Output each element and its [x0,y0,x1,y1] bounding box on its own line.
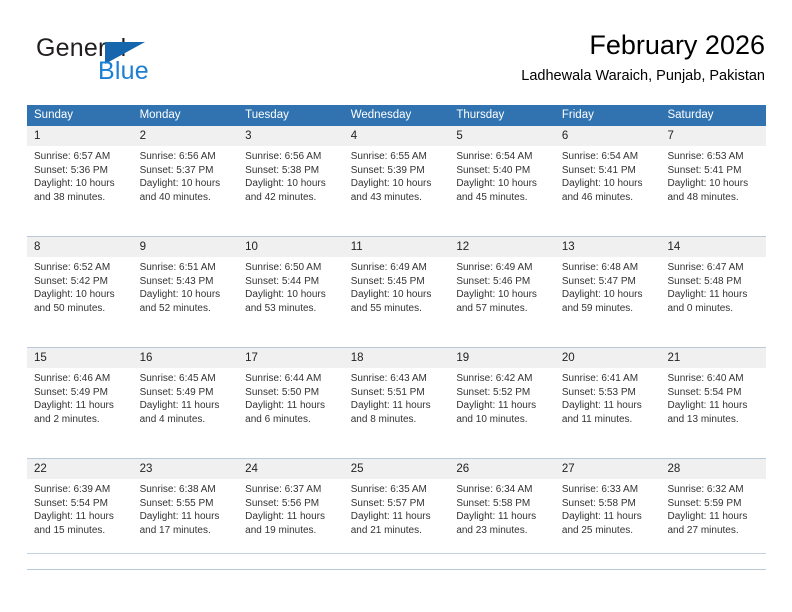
day-number-band: 3 [238,126,344,146]
daylight-text-line2: and 15 minutes. [34,524,126,538]
day-cell[interactable]: 17 Sunrise: 6:44 AM Sunset: 5:50 PM Dayl… [238,348,344,458]
day-number: 8 [27,237,133,257]
calendar-bottom-divider [27,553,766,554]
sunset-text: Sunset: 5:53 PM [562,386,654,400]
sunrise-text: Sunrise: 6:56 AM [245,150,337,164]
daylight-text-line2: and 53 minutes. [245,302,337,316]
daylight-text-line2: and 52 minutes. [140,302,232,316]
day-details: Sunrise: 6:54 AM Sunset: 5:40 PM Dayligh… [449,146,555,204]
daylight-text-line1: Daylight: 11 hours [351,510,443,524]
sunset-text: Sunset: 5:40 PM [456,164,548,178]
sunrise-text: Sunrise: 6:37 AM [245,483,337,497]
sunset-text: Sunset: 5:47 PM [562,275,654,289]
daylight-text-line1: Daylight: 11 hours [667,399,759,413]
day-number-band: 27 [555,459,661,479]
day-number-band: 22 [27,459,133,479]
daylight-text-line2: and 0 minutes. [667,302,759,316]
day-number: 12 [449,237,555,257]
day-number-band: 15 [27,348,133,368]
day-number-band: 9 [133,237,239,257]
daylight-text-line1: Daylight: 11 hours [140,510,232,524]
sunset-text: Sunset: 5:58 PM [456,497,548,511]
day-details: Sunrise: 6:46 AM Sunset: 5:49 PM Dayligh… [27,368,133,426]
daylight-text-line1: Daylight: 10 hours [245,177,337,191]
day-number-band: 11 [344,237,450,257]
weekday-header-monday: Monday [133,105,239,126]
day-cell[interactable]: 5 Sunrise: 6:54 AM Sunset: 5:40 PM Dayli… [449,126,555,236]
day-number-band: 12 [449,237,555,257]
sunset-text: Sunset: 5:54 PM [667,386,759,400]
day-number-band: 1 [27,126,133,146]
daylight-text-line1: Daylight: 11 hours [140,399,232,413]
day-details: Sunrise: 6:50 AM Sunset: 5:44 PM Dayligh… [238,257,344,315]
calendar-grid: Sunday Monday Tuesday Wednesday Thursday… [27,105,766,570]
day-number: 2 [133,126,239,146]
day-details: Sunrise: 6:37 AM Sunset: 5:56 PM Dayligh… [238,479,344,537]
daylight-text-line1: Daylight: 11 hours [667,510,759,524]
title-block: February 2026 Ladhewala Waraich, Punjab,… [521,28,765,87]
day-details: Sunrise: 6:49 AM Sunset: 5:45 PM Dayligh… [344,257,450,315]
daylight-text-line2: and 2 minutes. [34,413,126,427]
day-cell[interactable]: 2 Sunrise: 6:56 AM Sunset: 5:37 PM Dayli… [133,126,239,236]
daylight-text-line2: and 45 minutes. [456,191,548,205]
daylight-text-line2: and 13 minutes. [667,413,759,427]
sunrise-text: Sunrise: 6:49 AM [456,261,548,275]
sunrise-text: Sunrise: 6:33 AM [562,483,654,497]
day-cell[interactable]: 20 Sunrise: 6:41 AM Sunset: 5:53 PM Dayl… [555,348,661,458]
weekday-header-thursday: Thursday [449,105,555,126]
sunset-text: Sunset: 5:41 PM [667,164,759,178]
day-number-band: 26 [449,459,555,479]
sunset-text: Sunset: 5:56 PM [245,497,337,511]
day-cell[interactable]: 16 Sunrise: 6:45 AM Sunset: 5:49 PM Dayl… [133,348,239,458]
daylight-text-line2: and 27 minutes. [667,524,759,538]
daylight-text-line1: Daylight: 11 hours [562,510,654,524]
daylight-text-line2: and 10 minutes. [456,413,548,427]
day-details: Sunrise: 6:52 AM Sunset: 5:42 PM Dayligh… [27,257,133,315]
sunset-text: Sunset: 5:45 PM [351,275,443,289]
daylight-text-line2: and 21 minutes. [351,524,443,538]
sunset-text: Sunset: 5:54 PM [34,497,126,511]
day-cell[interactable]: 6 Sunrise: 6:54 AM Sunset: 5:41 PM Dayli… [555,126,661,236]
day-number: 3 [238,126,344,146]
sunrise-text: Sunrise: 6:34 AM [456,483,548,497]
day-number-band: 8 [27,237,133,257]
day-number: 20 [555,348,661,368]
day-number: 25 [344,459,450,479]
day-number: 18 [344,348,450,368]
day-details: Sunrise: 6:57 AM Sunset: 5:36 PM Dayligh… [27,146,133,204]
day-number: 21 [660,348,766,368]
day-cell[interactable]: 7 Sunrise: 6:53 AM Sunset: 5:41 PM Dayli… [660,126,766,236]
day-cell[interactable]: 8 Sunrise: 6:52 AM Sunset: 5:42 PM Dayli… [27,237,133,347]
day-cell[interactable]: 9 Sunrise: 6:51 AM Sunset: 5:43 PM Dayli… [133,237,239,347]
weekday-header-sunday: Sunday [27,105,133,126]
day-number-band: 18 [344,348,450,368]
brand-name-blue: Blue [98,57,149,86]
day-details: Sunrise: 6:32 AM Sunset: 5:59 PM Dayligh… [660,479,766,537]
daylight-text-line1: Daylight: 10 hours [562,177,654,191]
week-row: 1 Sunrise: 6:57 AM Sunset: 5:36 PM Dayli… [27,126,766,237]
daylight-text-line1: Daylight: 11 hours [667,288,759,302]
week-row: 15 Sunrise: 6:46 AM Sunset: 5:49 PM Dayl… [27,348,766,459]
day-cell[interactable]: 13 Sunrise: 6:48 AM Sunset: 5:47 PM Dayl… [555,237,661,347]
daylight-text-line1: Daylight: 11 hours [456,399,548,413]
sunrise-text: Sunrise: 6:40 AM [667,372,759,386]
sunrise-text: Sunrise: 6:56 AM [140,150,232,164]
calendar-page: General Blue February 2026 Ladhewala War… [0,0,792,612]
day-number: 23 [133,459,239,479]
day-number-band: 24 [238,459,344,479]
day-cell[interactable]: 19 Sunrise: 6:42 AM Sunset: 5:52 PM Dayl… [449,348,555,458]
day-number: 27 [555,459,661,479]
day-number-band: 23 [133,459,239,479]
daylight-text-line1: Daylight: 10 hours [351,288,443,302]
daylight-text-line2: and 57 minutes. [456,302,548,316]
daylight-text-line1: Daylight: 10 hours [562,288,654,302]
sunset-text: Sunset: 5:46 PM [456,275,548,289]
day-number: 13 [555,237,661,257]
day-number-band: 17 [238,348,344,368]
day-number: 26 [449,459,555,479]
daylight-text-line1: Daylight: 11 hours [351,399,443,413]
daylight-text-line1: Daylight: 11 hours [456,510,548,524]
sunset-text: Sunset: 5:44 PM [245,275,337,289]
day-cell[interactable]: 14 Sunrise: 6:47 AM Sunset: 5:48 PM Dayl… [660,237,766,347]
sunrise-text: Sunrise: 6:54 AM [456,150,548,164]
sunset-text: Sunset: 5:59 PM [667,497,759,511]
sunrise-text: Sunrise: 6:39 AM [34,483,126,497]
daylight-text-line2: and 50 minutes. [34,302,126,316]
day-number: 14 [660,237,766,257]
daylight-text-line1: Daylight: 10 hours [140,177,232,191]
daylight-text-line2: and 46 minutes. [562,191,654,205]
day-details: Sunrise: 6:49 AM Sunset: 5:46 PM Dayligh… [449,257,555,315]
day-details: Sunrise: 6:42 AM Sunset: 5:52 PM Dayligh… [449,368,555,426]
day-number-band: 13 [555,237,661,257]
sunrise-text: Sunrise: 6:44 AM [245,372,337,386]
daylight-text-line2: and 23 minutes. [456,524,548,538]
page-title: February 2026 [521,28,765,62]
sunset-text: Sunset: 5:43 PM [140,275,232,289]
week-row: 8 Sunrise: 6:52 AM Sunset: 5:42 PM Dayli… [27,237,766,348]
sunrise-text: Sunrise: 6:51 AM [140,261,232,275]
day-number-band: 25 [344,459,450,479]
day-cell[interactable]: 11 Sunrise: 6:49 AM Sunset: 5:45 PM Dayl… [344,237,450,347]
day-number-band: 16 [133,348,239,368]
sunrise-text: Sunrise: 6:45 AM [140,372,232,386]
daylight-text-line2: and 43 minutes. [351,191,443,205]
daylight-text-line2: and 40 minutes. [140,191,232,205]
weekday-header-tuesday: Tuesday [238,105,344,126]
day-number: 9 [133,237,239,257]
day-number: 16 [133,348,239,368]
daylight-text-line1: Daylight: 11 hours [562,399,654,413]
sunset-text: Sunset: 5:41 PM [562,164,654,178]
day-cell[interactable]: 15 Sunrise: 6:46 AM Sunset: 5:49 PM Dayl… [27,348,133,458]
daylight-text-line1: Daylight: 10 hours [351,177,443,191]
sunset-text: Sunset: 5:39 PM [351,164,443,178]
day-details: Sunrise: 6:41 AM Sunset: 5:53 PM Dayligh… [555,368,661,426]
day-details: Sunrise: 6:43 AM Sunset: 5:51 PM Dayligh… [344,368,450,426]
daylight-text-line2: and 25 minutes. [562,524,654,538]
sunrise-text: Sunrise: 6:46 AM [34,372,126,386]
day-number: 15 [27,348,133,368]
day-details: Sunrise: 6:38 AM Sunset: 5:55 PM Dayligh… [133,479,239,537]
sunset-text: Sunset: 5:55 PM [140,497,232,511]
page-header: General Blue February 2026 Ladhewala War… [27,28,765,98]
day-cell[interactable]: 12 Sunrise: 6:49 AM Sunset: 5:46 PM Dayl… [449,237,555,347]
sunrise-text: Sunrise: 6:57 AM [34,150,126,164]
sunrise-text: Sunrise: 6:48 AM [562,261,654,275]
day-details: Sunrise: 6:56 AM Sunset: 5:38 PM Dayligh… [238,146,344,204]
sunset-text: Sunset: 5:52 PM [456,386,548,400]
sunrise-text: Sunrise: 6:49 AM [351,261,443,275]
daylight-text-line2: and 8 minutes. [351,413,443,427]
day-number: 24 [238,459,344,479]
day-number: 4 [344,126,450,146]
daylight-text-line2: and 6 minutes. [245,413,337,427]
day-details: Sunrise: 6:47 AM Sunset: 5:48 PM Dayligh… [660,257,766,315]
day-number: 1 [27,126,133,146]
daylight-text-line1: Daylight: 10 hours [245,288,337,302]
sunset-text: Sunset: 5:42 PM [34,275,126,289]
sunset-text: Sunset: 5:50 PM [245,386,337,400]
day-number: 10 [238,237,344,257]
daylight-text-line1: Daylight: 10 hours [34,177,126,191]
day-number: 11 [344,237,450,257]
day-number: 28 [660,459,766,479]
page-subtitle: Ladhewala Waraich, Punjab, Pakistan [521,65,765,87]
daylight-text-line1: Daylight: 10 hours [456,288,548,302]
daylight-text-line2: and 59 minutes. [562,302,654,316]
day-number-band: 5 [449,126,555,146]
day-number: 19 [449,348,555,368]
day-details: Sunrise: 6:39 AM Sunset: 5:54 PM Dayligh… [27,479,133,537]
day-cell[interactable]: 4 Sunrise: 6:55 AM Sunset: 5:39 PM Dayli… [344,126,450,236]
daylight-text-line1: Daylight: 11 hours [245,399,337,413]
day-cell[interactable]: 18 Sunrise: 6:43 AM Sunset: 5:51 PM Dayl… [344,348,450,458]
sunrise-text: Sunrise: 6:54 AM [562,150,654,164]
day-cell[interactable]: 3 Sunrise: 6:56 AM Sunset: 5:38 PM Dayli… [238,126,344,236]
day-cell[interactable]: 10 Sunrise: 6:50 AM Sunset: 5:44 PM Dayl… [238,237,344,347]
day-number-band: 21 [660,348,766,368]
day-details: Sunrise: 6:35 AM Sunset: 5:57 PM Dayligh… [344,479,450,537]
day-number: 7 [660,126,766,146]
sunset-text: Sunset: 5:49 PM [34,386,126,400]
sunrise-text: Sunrise: 6:52 AM [34,261,126,275]
sunset-text: Sunset: 5:49 PM [140,386,232,400]
day-details: Sunrise: 6:55 AM Sunset: 5:39 PM Dayligh… [344,146,450,204]
day-cell[interactable]: 21 Sunrise: 6:40 AM Sunset: 5:54 PM Dayl… [660,348,766,458]
daylight-text-line2: and 19 minutes. [245,524,337,538]
brand-logo[interactable]: General Blue [36,34,216,90]
day-number: 6 [555,126,661,146]
sunrise-text: Sunrise: 6:38 AM [140,483,232,497]
day-number-band: 10 [238,237,344,257]
day-number-band: 7 [660,126,766,146]
day-details: Sunrise: 6:54 AM Sunset: 5:41 PM Dayligh… [555,146,661,204]
day-details: Sunrise: 6:33 AM Sunset: 5:58 PM Dayligh… [555,479,661,537]
day-details: Sunrise: 6:44 AM Sunset: 5:50 PM Dayligh… [238,368,344,426]
daylight-text-line1: Daylight: 10 hours [34,288,126,302]
weekday-header-friday: Friday [555,105,661,126]
sunrise-text: Sunrise: 6:41 AM [562,372,654,386]
weekday-header-saturday: Saturday [660,105,766,126]
day-number-band: 20 [555,348,661,368]
daylight-text-line2: and 55 minutes. [351,302,443,316]
day-number-band: 4 [344,126,450,146]
sunset-text: Sunset: 5:36 PM [34,164,126,178]
daylight-text-line1: Daylight: 11 hours [34,510,126,524]
sunrise-text: Sunrise: 6:47 AM [667,261,759,275]
sunrise-text: Sunrise: 6:50 AM [245,261,337,275]
sunset-text: Sunset: 5:38 PM [245,164,337,178]
sunrise-text: Sunrise: 6:55 AM [351,150,443,164]
weekday-header-row: Sunday Monday Tuesday Wednesday Thursday… [27,105,766,126]
sunset-text: Sunset: 5:37 PM [140,164,232,178]
day-number: 17 [238,348,344,368]
daylight-text-line2: and 4 minutes. [140,413,232,427]
day-number-band: 2 [133,126,239,146]
daylight-text-line1: Daylight: 10 hours [140,288,232,302]
sunset-text: Sunset: 5:48 PM [667,275,759,289]
sunrise-text: Sunrise: 6:43 AM [351,372,443,386]
daylight-text-line1: Daylight: 10 hours [456,177,548,191]
weekday-header-wednesday: Wednesday [344,105,450,126]
day-number: 22 [27,459,133,479]
day-details: Sunrise: 6:34 AM Sunset: 5:58 PM Dayligh… [449,479,555,537]
sunset-text: Sunset: 5:58 PM [562,497,654,511]
daylight-text-line2: and 11 minutes. [562,413,654,427]
sunset-text: Sunset: 5:57 PM [351,497,443,511]
daylight-text-line1: Daylight: 10 hours [667,177,759,191]
sunrise-text: Sunrise: 6:35 AM [351,483,443,497]
daylight-text-line1: Daylight: 11 hours [245,510,337,524]
sunset-text: Sunset: 5:51 PM [351,386,443,400]
day-number-band: 14 [660,237,766,257]
daylight-text-line2: and 17 minutes. [140,524,232,538]
day-cell[interactable]: 1 Sunrise: 6:57 AM Sunset: 5:36 PM Dayli… [27,126,133,236]
daylight-text-line2: and 42 minutes. [245,191,337,205]
day-details: Sunrise: 6:53 AM Sunset: 5:41 PM Dayligh… [660,146,766,204]
day-number-band: 28 [660,459,766,479]
day-number-band: 6 [555,126,661,146]
day-number: 5 [449,126,555,146]
daylight-text-line2: and 38 minutes. [34,191,126,205]
sunrise-text: Sunrise: 6:42 AM [456,372,548,386]
day-details: Sunrise: 6:45 AM Sunset: 5:49 PM Dayligh… [133,368,239,426]
day-details: Sunrise: 6:56 AM Sunset: 5:37 PM Dayligh… [133,146,239,204]
daylight-text-line2: and 48 minutes. [667,191,759,205]
day-details: Sunrise: 6:40 AM Sunset: 5:54 PM Dayligh… [660,368,766,426]
day-details: Sunrise: 6:48 AM Sunset: 5:47 PM Dayligh… [555,257,661,315]
day-details: Sunrise: 6:51 AM Sunset: 5:43 PM Dayligh… [133,257,239,315]
daylight-text-line1: Daylight: 11 hours [34,399,126,413]
day-number-band: 19 [449,348,555,368]
sunrise-text: Sunrise: 6:32 AM [667,483,759,497]
sunrise-text: Sunrise: 6:53 AM [667,150,759,164]
